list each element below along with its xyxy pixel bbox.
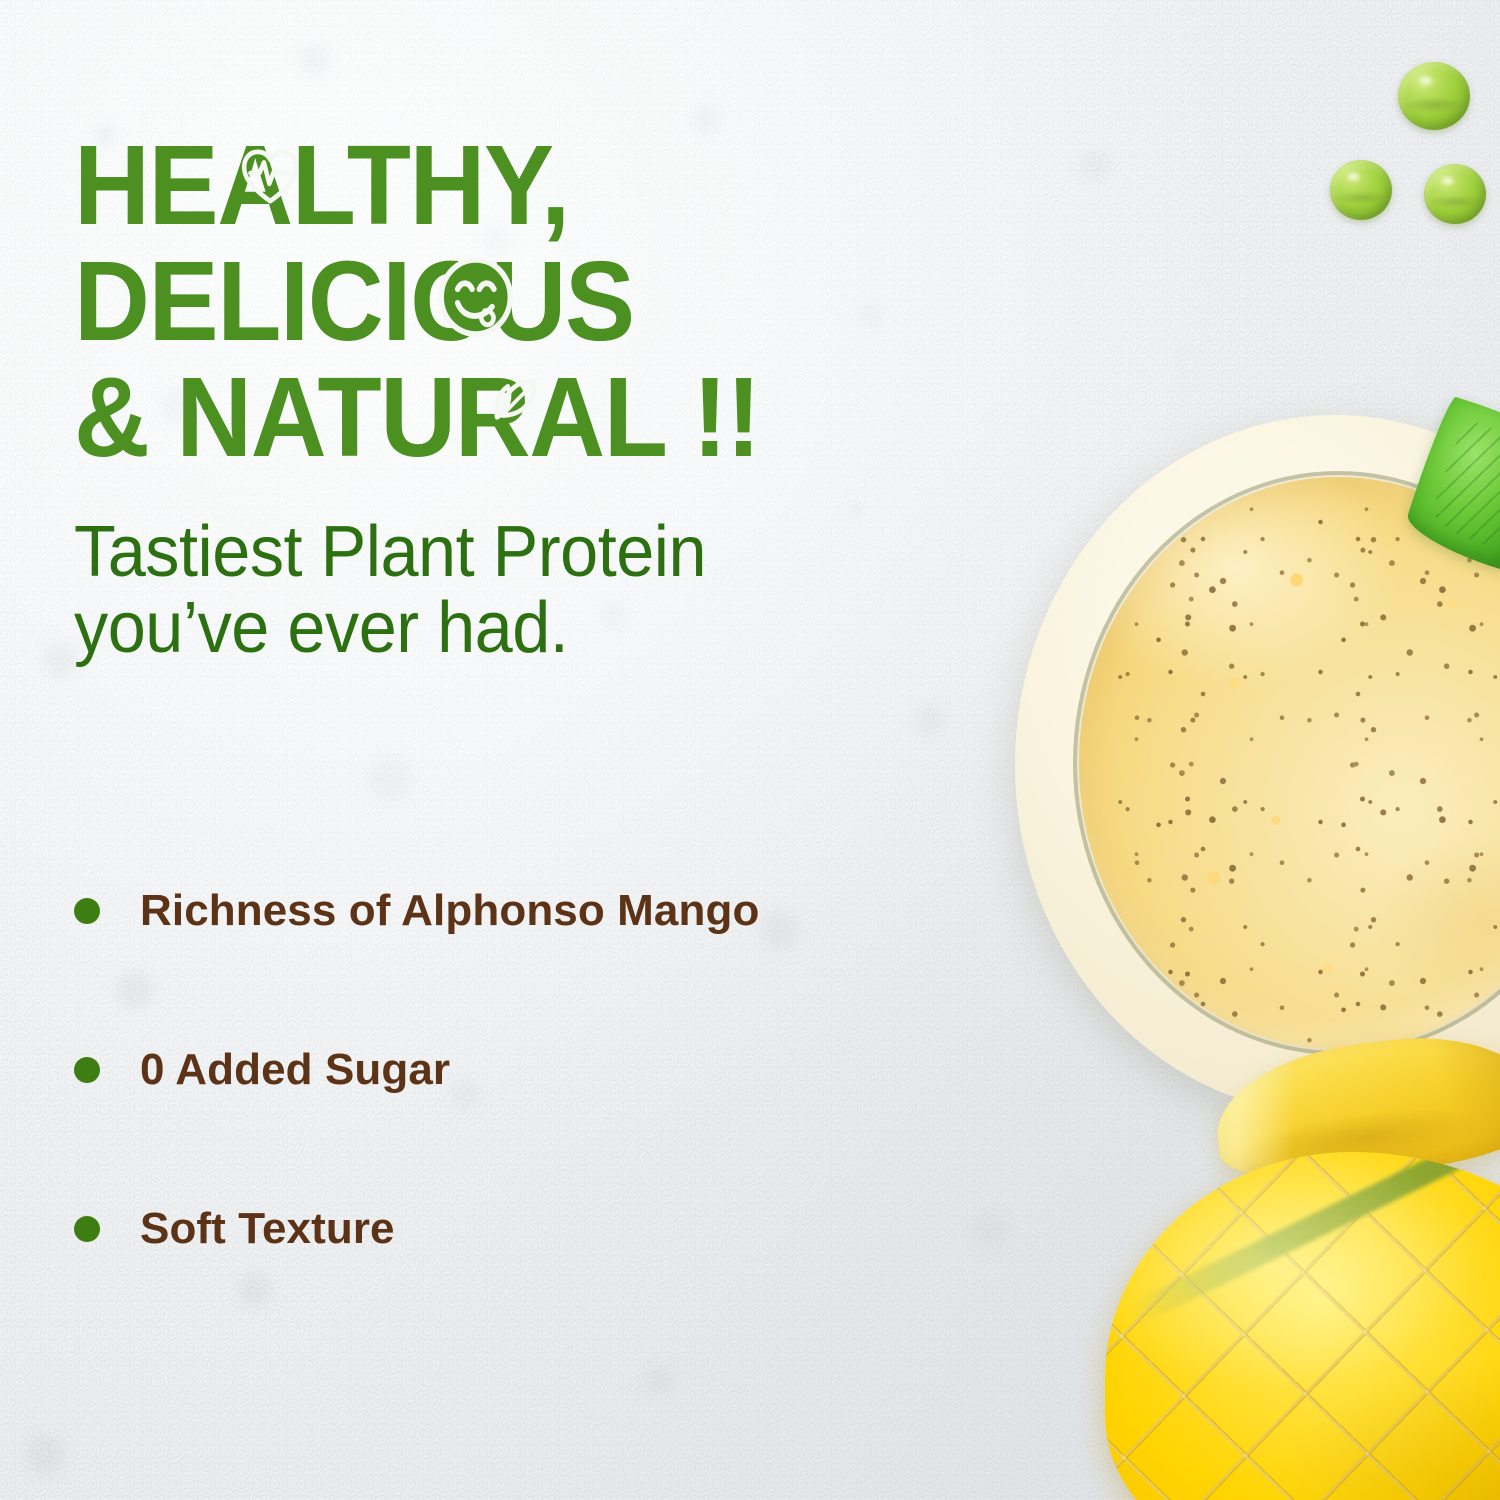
subheadline-line-2: you’ve ever had. bbox=[74, 590, 929, 666]
bullet-dot-icon bbox=[74, 1057, 100, 1083]
feature-list: Richness of Alphonso Mango 0 Added Sugar… bbox=[74, 880, 954, 1260]
feature-label: Soft Texture bbox=[140, 1204, 395, 1254]
smoothie-liquid bbox=[1079, 477, 1500, 1049]
spice-speckles bbox=[1079, 477, 1500, 1049]
copy-block: HEALTHY, DELICIOUS & NA bbox=[74, 130, 974, 666]
headline: HEALTHY, DELICIOUS & NA bbox=[74, 130, 911, 474]
feature-label: 0 Added Sugar bbox=[140, 1045, 450, 1095]
list-item: 0 Added Sugar bbox=[74, 1039, 954, 1101]
pea-icon bbox=[1330, 160, 1392, 220]
bullet-dot-icon bbox=[74, 1216, 100, 1242]
headline-line-1: HEALTHY, bbox=[74, 130, 911, 242]
list-item: Richness of Alphonso Mango bbox=[74, 880, 954, 942]
headline-line-3: & NATURAL !! bbox=[74, 362, 911, 474]
bullet-dot-icon bbox=[74, 898, 100, 924]
headline-line-1-text: HEALTHY, bbox=[74, 122, 569, 248]
feature-label: Richness of Alphonso Mango bbox=[140, 886, 759, 936]
headline-line-2: DELICIOUS bbox=[74, 246, 911, 358]
list-item: Soft Texture bbox=[74, 1198, 954, 1260]
green-peas-cluster bbox=[1320, 60, 1500, 235]
mango-smoothie-glass bbox=[1015, 415, 1500, 1115]
pea-icon bbox=[1398, 62, 1470, 130]
pea-icon bbox=[1424, 164, 1486, 224]
cut-mango-cubes bbox=[1105, 1152, 1500, 1500]
promo-banner: HEALTHY, DELICIOUS & NA bbox=[0, 0, 1500, 1500]
headline-line-2-text: DELICIOUS bbox=[74, 238, 634, 364]
subheadline-line-1: Tastiest Plant Protein bbox=[74, 514, 929, 590]
subheadline: Tastiest Plant Protein you’ve ever had. bbox=[74, 514, 929, 667]
mango-shading bbox=[1105, 1152, 1500, 1500]
headline-line-3-text: & NATURAL !! bbox=[74, 354, 760, 480]
